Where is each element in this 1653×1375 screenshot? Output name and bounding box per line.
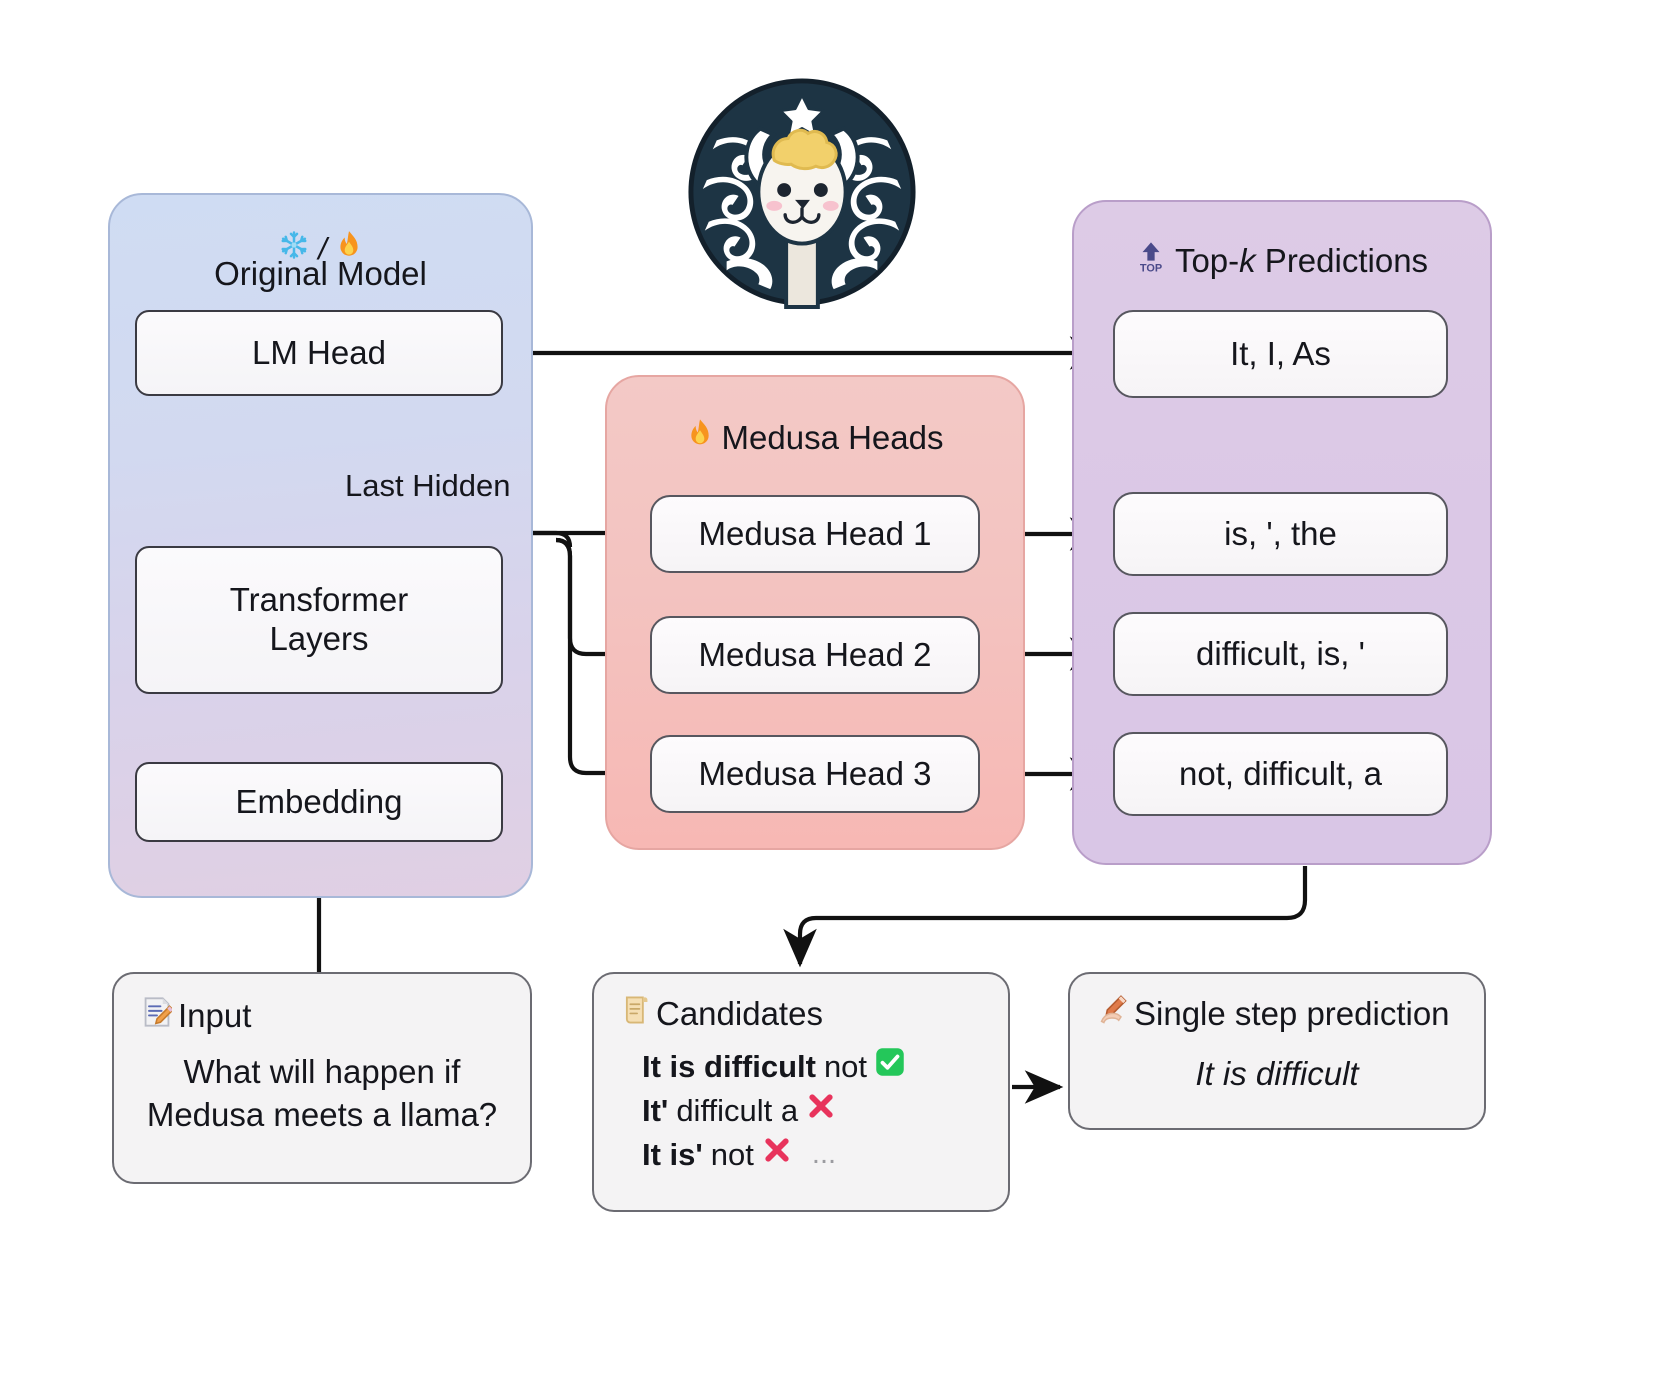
node-prediction-lm-head[interactable]: It, I, As bbox=[1113, 310, 1448, 398]
top-arrow-icon: TOP bbox=[1136, 240, 1166, 282]
panel-topk-predictions-label: Top-k Predictions bbox=[1175, 242, 1428, 280]
node-transformer-layers-label-line2: Layers bbox=[230, 620, 408, 659]
node-medusa-head-2[interactable]: Medusa Head 2 bbox=[650, 616, 980, 694]
box-candidates[interactable]: Candidates It is difficult not It' diffi… bbox=[592, 972, 1010, 1212]
edge-label-last-hidden: Last Hidden bbox=[345, 468, 510, 504]
svg-text:TOP: TOP bbox=[1140, 263, 1162, 274]
memo-icon bbox=[142, 996, 172, 1037]
writing-hand-icon bbox=[1098, 994, 1128, 1035]
check-mark-icon bbox=[875, 1045, 905, 1089]
node-prediction-head-2-label: difficult, is, ' bbox=[1196, 635, 1365, 674]
box-single-step-heading-label: Single step prediction bbox=[1134, 995, 1450, 1034]
topk-title-prefix: Top- bbox=[1175, 242, 1239, 279]
node-medusa-head-1-label: Medusa Head 1 bbox=[699, 515, 932, 554]
panel-topk-predictions-title: TOP Top-k Predictions bbox=[1072, 240, 1492, 282]
box-single-step-heading: Single step prediction bbox=[1098, 994, 1462, 1035]
candidate-row-1-bold: It' bbox=[642, 1089, 668, 1133]
panel-medusa-heads-label: Medusa Heads bbox=[722, 419, 944, 457]
candidate-row-2-bold: It is' bbox=[642, 1133, 703, 1177]
candidate-row-0-rest: not bbox=[824, 1045, 867, 1089]
box-single-step-value: It is difficult bbox=[1092, 1055, 1462, 1094]
medusa-llama-logo bbox=[683, 72, 921, 312]
node-embedding[interactable]: Embedding bbox=[135, 762, 503, 842]
candidate-row: It is difficult not bbox=[642, 1045, 986, 1089]
box-single-step-prediction[interactable]: Single step prediction It is difficult bbox=[1068, 972, 1486, 1130]
node-transformer-layers[interactable]: Transformer Layers bbox=[135, 546, 503, 694]
candidate-row: It' difficult a bbox=[642, 1089, 986, 1133]
candidate-row: It is' not ... bbox=[642, 1133, 986, 1177]
cross-mark-icon bbox=[806, 1089, 836, 1133]
candidate-row-0-bold: It is difficult bbox=[642, 1045, 816, 1089]
node-medusa-head-1[interactable]: Medusa Head 1 bbox=[650, 495, 980, 573]
node-medusa-head-3[interactable]: Medusa Head 3 bbox=[650, 735, 980, 813]
box-input-body: What will happen if Medusa meets a llama… bbox=[136, 1051, 508, 1137]
box-input-heading-label: Input bbox=[178, 997, 251, 1036]
node-medusa-head-2-label: Medusa Head 2 bbox=[699, 636, 932, 675]
box-input-heading: Input bbox=[142, 996, 508, 1037]
cross-mark-icon bbox=[762, 1133, 792, 1177]
candidates-list: It is difficult not It' difficult a It i… bbox=[642, 1045, 986, 1177]
node-transformer-layers-label-line1: Transformer bbox=[230, 581, 408, 620]
node-embedding-label: Embedding bbox=[236, 783, 403, 822]
node-prediction-head-3[interactable]: not, difficult, a bbox=[1113, 732, 1448, 816]
node-medusa-head-3-label: Medusa Head 3 bbox=[699, 755, 932, 794]
box-input-line1: What will happen if bbox=[136, 1051, 508, 1094]
scroll-icon bbox=[622, 994, 650, 1035]
candidate-row-1-rest: difficult a bbox=[676, 1089, 798, 1133]
topk-title-suffix: Predictions bbox=[1256, 242, 1428, 279]
node-prediction-head-1-label: is, ', the bbox=[1224, 515, 1337, 554]
box-input-line2: Medusa meets a llama? bbox=[136, 1094, 508, 1137]
node-lm-head-label: LM Head bbox=[252, 334, 386, 373]
node-lm-head[interactable]: LM Head bbox=[135, 310, 503, 396]
node-prediction-head-1[interactable]: is, ', the bbox=[1113, 492, 1448, 576]
panel-medusa-heads-title: Medusa Heads bbox=[605, 418, 1025, 457]
candidate-row-2-ellipsis: ... bbox=[812, 1134, 836, 1175]
edge-topk-to-candidates bbox=[800, 866, 1305, 964]
box-candidates-heading: Candidates bbox=[622, 994, 986, 1035]
box-candidates-heading-label: Candidates bbox=[656, 995, 823, 1034]
box-input[interactable]: Input What will happen if Medusa meets a… bbox=[112, 972, 532, 1184]
candidate-row-2-rest: not bbox=[711, 1133, 754, 1177]
panel-original-model-label: Original Model bbox=[108, 252, 533, 296]
node-prediction-lm-head-label: It, I, As bbox=[1230, 335, 1331, 374]
diagram-canvas: / Original Model LM Head Transformer Lay… bbox=[0, 0, 1653, 1375]
node-prediction-head-3-label: not, difficult, a bbox=[1179, 755, 1382, 794]
node-prediction-head-2[interactable]: difficult, is, ' bbox=[1113, 612, 1448, 696]
topk-title-italic-k: k bbox=[1239, 242, 1256, 279]
fire-icon bbox=[687, 418, 713, 457]
